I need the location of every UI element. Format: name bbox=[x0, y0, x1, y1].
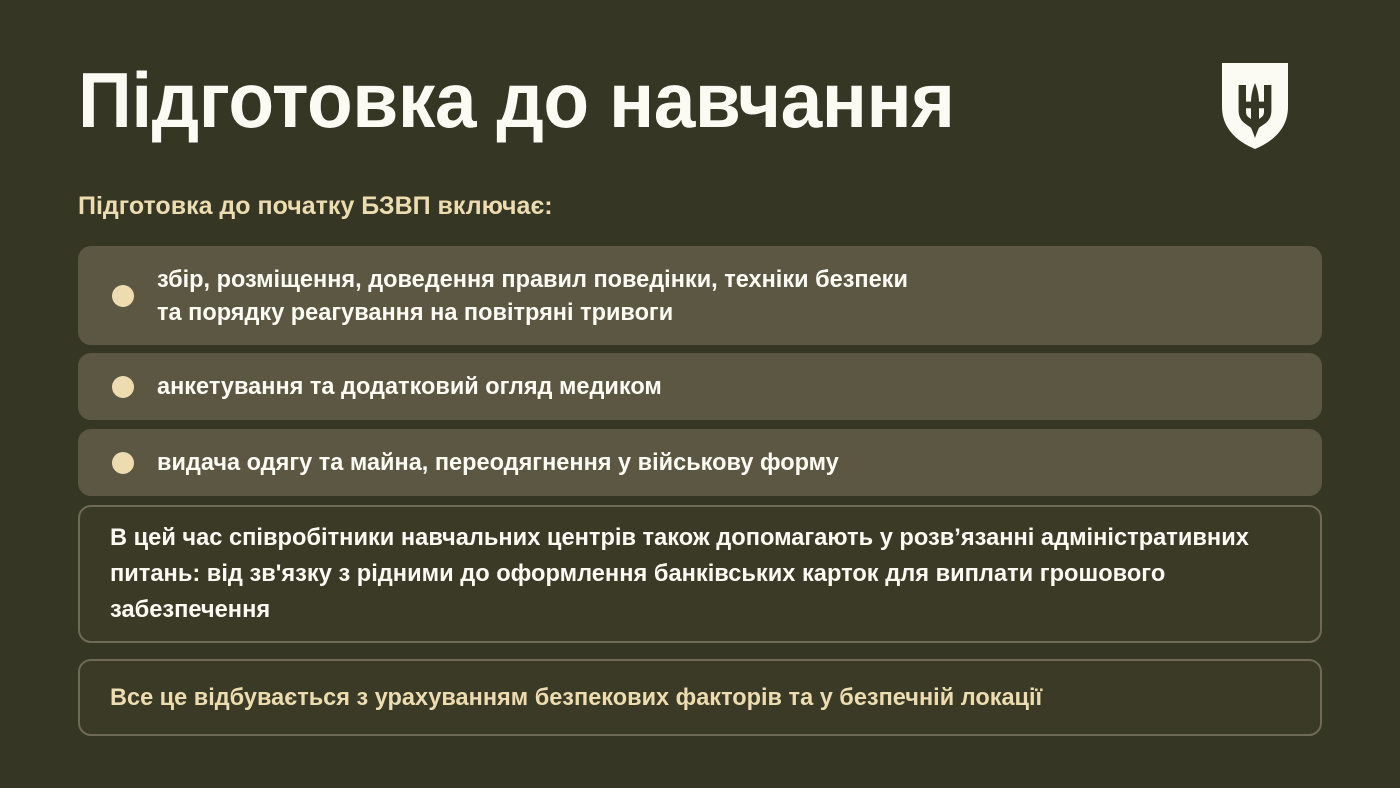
bullet-dot-icon bbox=[112, 452, 134, 474]
list-item-text: видача одягу та майна, переодягнення у в… bbox=[157, 447, 1298, 479]
bullet-dot-icon bbox=[112, 376, 134, 398]
note-card-text: Все це відбувається з урахуванням безпек… bbox=[110, 682, 1068, 714]
paragraph-card: В цей час співробітники навчальних центр… bbox=[78, 505, 1322, 643]
page-title: Підготовка до навчання bbox=[78, 58, 954, 142]
list-item-text: анкетування та додатковий огляд медиком bbox=[157, 371, 1298, 403]
bullet-dot-icon bbox=[112, 285, 134, 307]
list-item-text: збір, розміщення, доведення правил повед… bbox=[157, 263, 1298, 329]
subtitle: Підготовка до початку БЗВП включає: bbox=[78, 190, 553, 222]
list-item-line-1: збір, розміщення, доведення правил повед… bbox=[157, 266, 908, 293]
ukrainian-ground-forces-shield-trident-icon bbox=[1222, 63, 1288, 149]
list-item: анкетування та додатковий огляд медиком bbox=[78, 353, 1322, 420]
list-item-line-2: та порядку реагування на повітряні триво… bbox=[157, 299, 673, 326]
list-item: збір, розміщення, доведення правил повед… bbox=[78, 246, 1322, 345]
slide-header: Підготовка до навчання bbox=[78, 58, 1322, 158]
list-item: видача одягу та майна, переодягнення у в… bbox=[78, 429, 1322, 496]
slide-root: Підготовка до навчання Підготовка до поч… bbox=[0, 0, 1400, 788]
content-cards: збір, розміщення, доведення правил повед… bbox=[78, 246, 1322, 736]
note-card: Все це відбувається з урахуванням безпек… bbox=[78, 659, 1322, 736]
paragraph-card-text: В цей час співробітники навчальних центр… bbox=[110, 520, 1302, 628]
